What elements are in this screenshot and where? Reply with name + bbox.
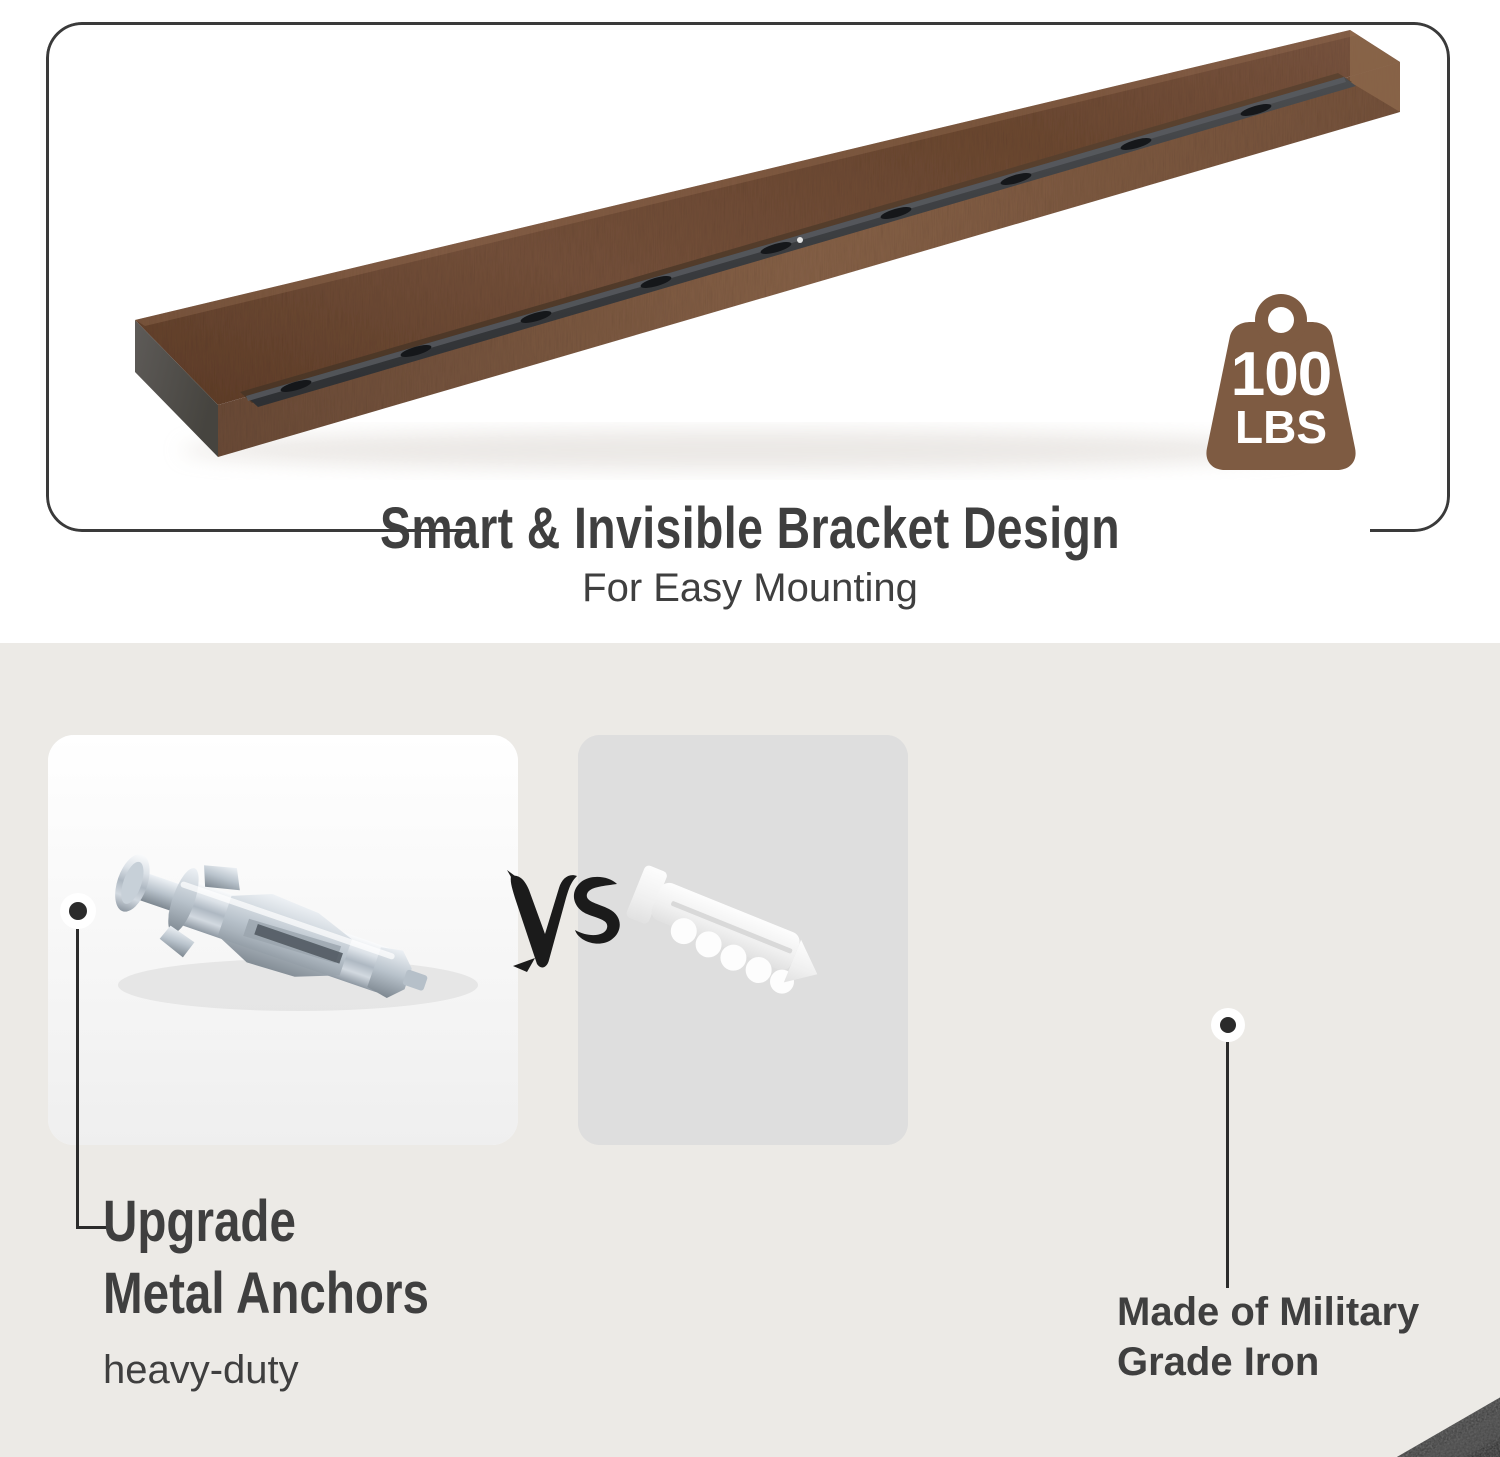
- weight-capacity-badge: 100 LBS: [1183, 292, 1379, 478]
- metal-anchor-title-line2: Metal Anchors: [103, 1264, 429, 1323]
- anchor-callout-line: [76, 929, 79, 1229]
- metal-anchor-title-line1: Upgrade: [103, 1192, 296, 1251]
- rod-caption: Made of Military Grade Iron: [1117, 1287, 1419, 1387]
- iron-rod-illustration: [880, 1383, 1500, 1457]
- page-subtitle: For Easy Mounting: [0, 566, 1500, 611]
- product-feature-image: 100 LBS Smart & Invisible Bracket Design…: [0, 0, 1500, 1457]
- metal-molly-bolt-anchor-icon: [48, 735, 518, 1145]
- plastic-anchor-card: [578, 735, 908, 1145]
- badge-weight-unit: LBS: [1183, 404, 1379, 450]
- versus-icon: [505, 862, 625, 982]
- rod-callout-line: [1226, 1042, 1229, 1288]
- anchor-callout-dot: [60, 893, 96, 929]
- badge-weight-value: 100: [1183, 344, 1379, 406]
- page-title: Smart & Invisible Bracket Design: [150, 495, 1350, 562]
- metal-anchor-subtitle: heavy-duty: [103, 1348, 299, 1393]
- rod-callout-dot: [1211, 1008, 1245, 1042]
- rod-caption-line1: Made of Military: [1117, 1287, 1419, 1337]
- top-section: 100 LBS Smart & Invisible Bracket Design…: [0, 0, 1500, 643]
- plastic-wall-plug-icon: [578, 735, 908, 1145]
- rod-caption-line2: Grade Iron: [1117, 1337, 1419, 1387]
- metal-anchor-card: [48, 735, 518, 1145]
